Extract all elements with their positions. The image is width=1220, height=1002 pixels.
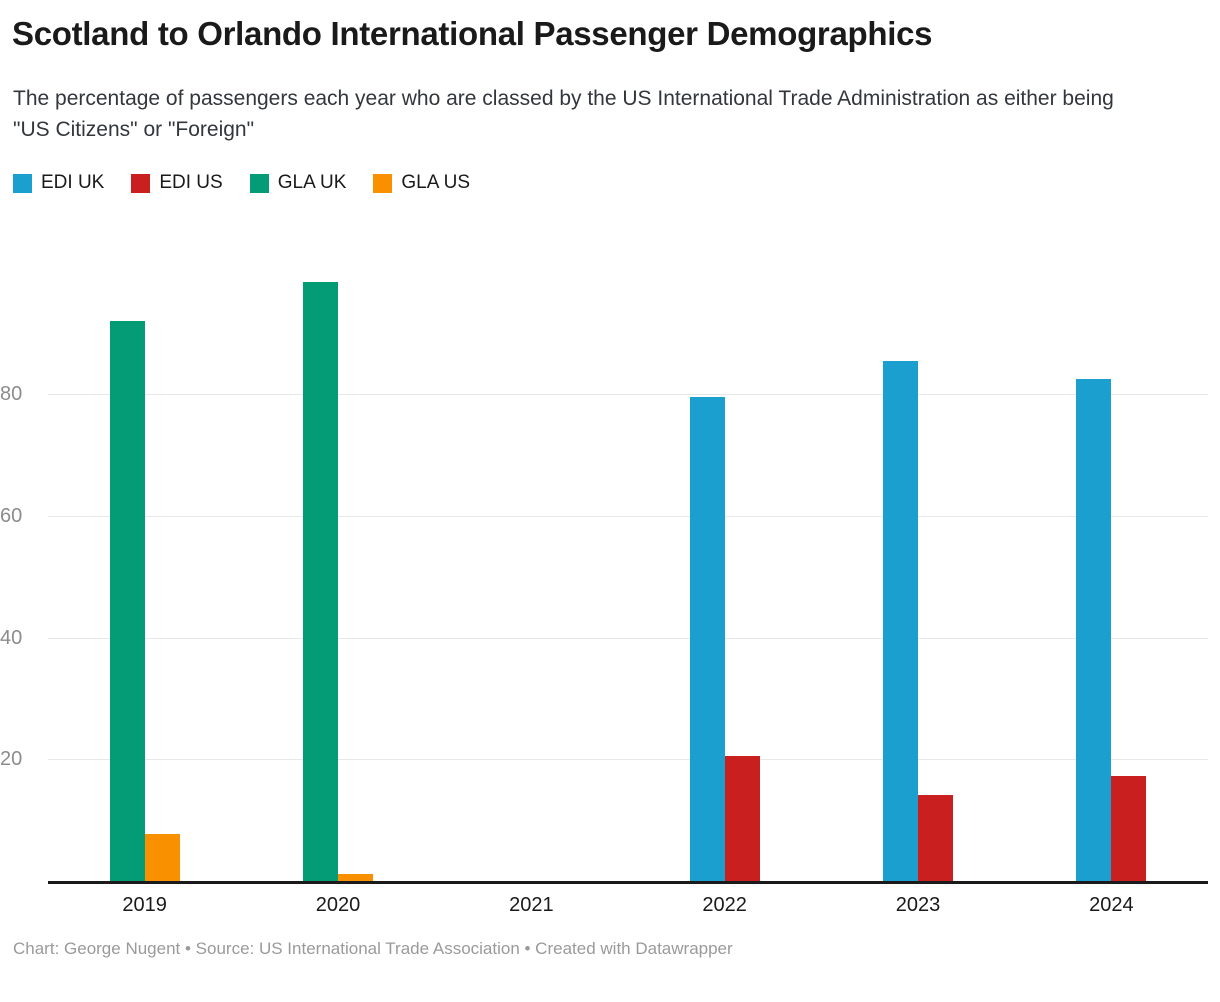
bar-edi-us-2022[interactable] (725, 756, 760, 881)
x-axis-label-2020: 2020 (278, 893, 398, 917)
chart-page: Scotland to Orlando International Passen… (0, 0, 1220, 1002)
bar-gla-uk-2020[interactable] (303, 282, 338, 881)
bar-gla-us-2019[interactable] (145, 834, 180, 881)
gridline-20 (48, 759, 1208, 760)
bar-edi-us-2024[interactable] (1111, 776, 1146, 881)
gridline-60 (48, 516, 1208, 517)
y-axis-label-80: 80 (0, 384, 40, 404)
y-axis-label-60: 60 (0, 506, 40, 526)
x-axis-line (48, 881, 1208, 884)
y-axis-label-20: 20 (0, 749, 40, 769)
bar-edi-uk-2022[interactable] (690, 397, 725, 881)
y-axis-label-40: 40 (0, 628, 40, 648)
chart-credit: Chart: George Nugent • Source: US Intern… (13, 938, 733, 960)
x-axis-label-2023: 2023 (858, 893, 978, 917)
plot-area: 20406080 201920202021202220232024 (0, 0, 1220, 1002)
bar-edi-us-2023[interactable] (918, 795, 953, 881)
x-axis-label-2024: 2024 (1051, 893, 1171, 917)
bar-gla-us-2020[interactable] (338, 874, 373, 881)
bar-edi-uk-2024[interactable] (1076, 379, 1111, 881)
x-axis-label-2021: 2021 (471, 893, 591, 917)
gridline-40 (48, 638, 1208, 639)
bar-gla-uk-2019[interactable] (110, 321, 145, 881)
gridline-80 (48, 394, 1208, 395)
x-axis-label-2019: 2019 (85, 893, 205, 917)
x-axis-label-2022: 2022 (665, 893, 785, 917)
bar-edi-uk-2023[interactable] (883, 361, 918, 881)
